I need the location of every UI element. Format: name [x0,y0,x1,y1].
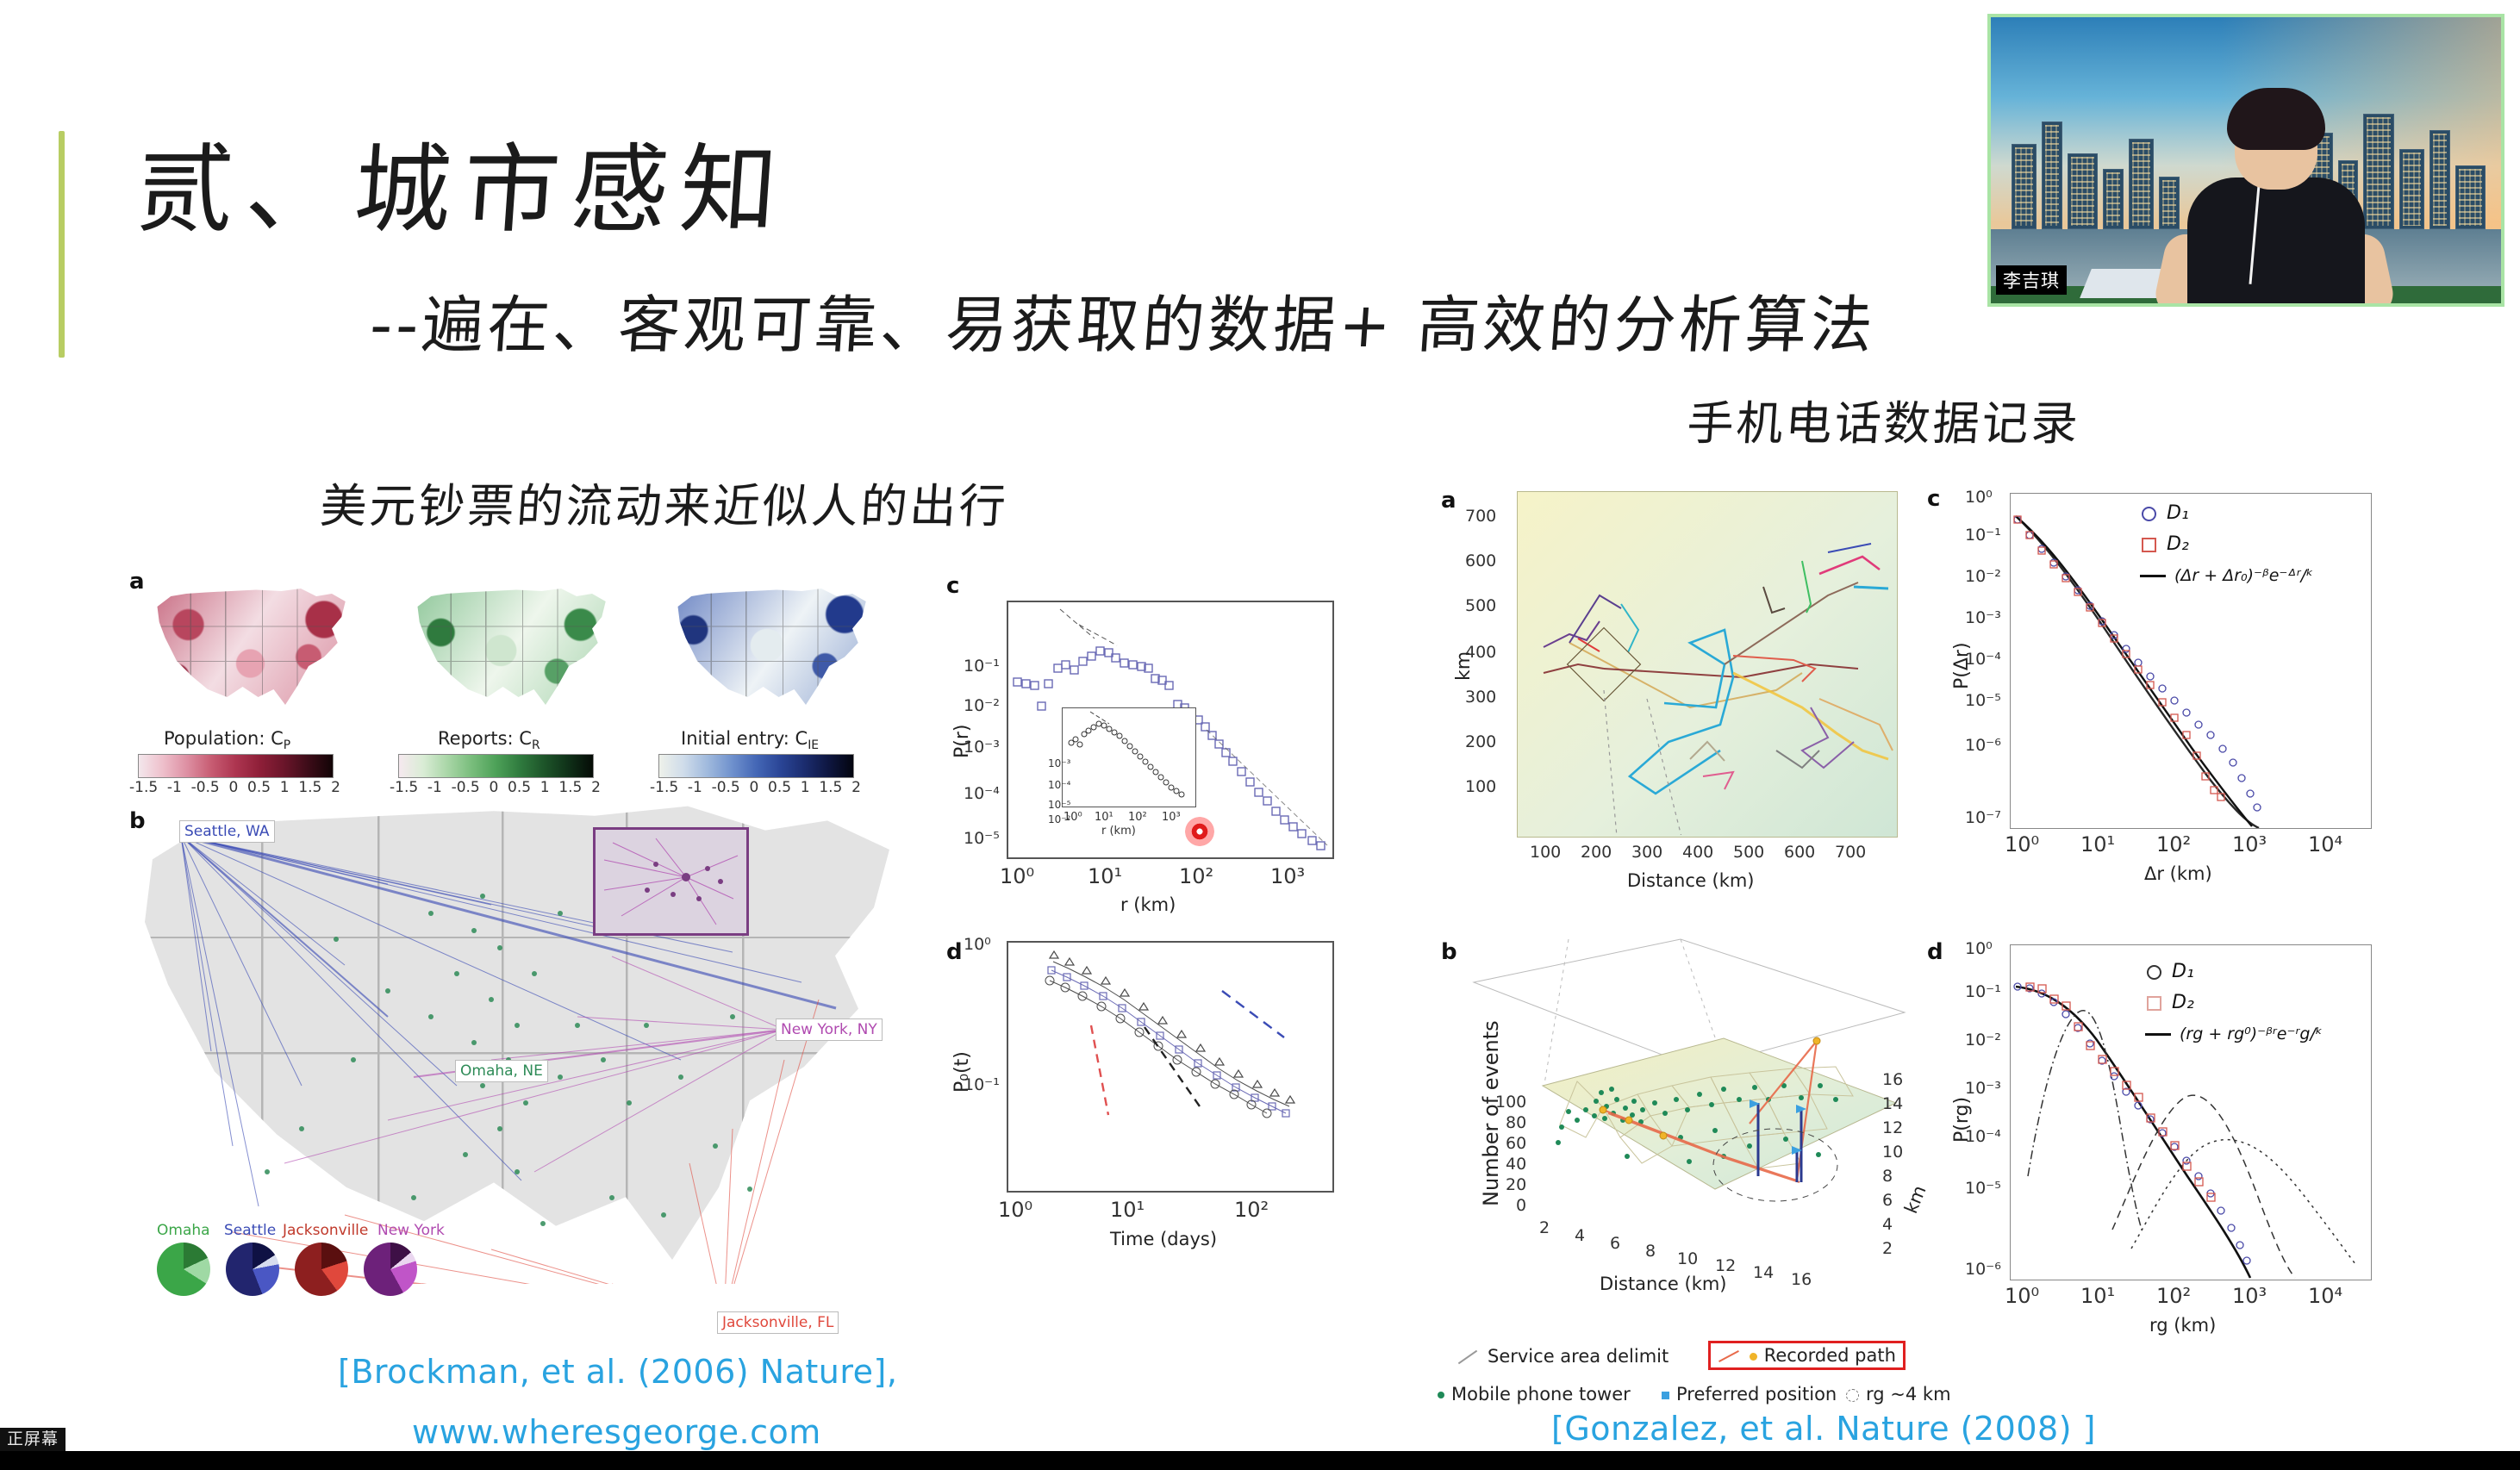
right-panel-d-ytick-6: 10⁻⁶ [1965,1260,2001,1279]
choropleth-map-reports [414,586,608,715]
rg-circle-icon [1846,1389,1859,1402]
right-panel-a-xtick-3: 400 [1682,843,1713,862]
right-panel-b-ztick-14: 14 [1882,1094,1903,1113]
inset-ytick-4: 10⁻⁴ [1048,779,1070,791]
d2-square-icon [2142,538,2156,552]
left-panel-d-xtick-0: 10⁰ [998,1198,1032,1222]
right-panel-b-ztick-4: 4 [1882,1215,1893,1234]
colorbar-ticks-reports: -1.5-1 -0.50 0.51 1.52 [390,779,601,796]
right-panel-d-plot: D₁ D₂ (rg + rg⁰)⁻ᵝʳe⁻ʳg/ᵏ [2010,944,2372,1280]
recorded-path-dot-icon [1750,1353,1757,1361]
inset-xtick-0: 10⁰ [1064,811,1082,824]
inset-xtick-1: 10¹ [1095,811,1113,824]
right-panel-d-ytick-3: 10⁻³ [1965,1079,2001,1098]
right-panel-b-ztick-8: 8 [1882,1167,1893,1186]
right-panel-d-ytick-2: 10⁻² [1965,1031,2001,1050]
colorbar-initial-entry [658,754,854,778]
inset-xtick-2: 10² [1128,811,1147,824]
inset-xlabel: r (km) [1101,825,1136,838]
fit-line-icon [2145,1033,2171,1036]
right-panel-b-xlabel: Distance (km) [1600,1274,1727,1294]
right-panel-a-ytick-700: 700 [1465,507,1496,526]
pie-chart-jacksonville [295,1243,348,1296]
inset-ytick-3: 10⁻³ [1048,757,1070,769]
presenter-hair [2227,88,2325,150]
webcam-video-overlay[interactable]: 李吉琪 [1987,14,2504,307]
right-panel-c-legend-d2: D₂ [2142,533,2189,555]
bottom-black-bar [0,1451,2520,1470]
right-panel-d-letter: d [1927,939,1943,965]
right-panel-b-ytick-20: 20 [1506,1175,1526,1194]
left-panel-d-xlabel: Time (days) [1110,1229,1217,1249]
d1-circle-icon [2142,507,2156,521]
right-panel-a-ytick-600: 600 [1465,551,1496,570]
right-panel-d-xtick-0: 10⁰ [2005,1284,2039,1308]
left-panel-a-letter: a [129,569,145,595]
colorbar-population [138,754,334,778]
left-panel-c-xlabel: r (km) [1120,894,1176,915]
right-panel-c-ytick-5: 10⁻⁵ [1965,691,2001,710]
phone-tower-dot-icon [1438,1392,1444,1398]
mouse-cursor-highlight [1185,817,1214,846]
right-panel-d-xtick-1: 10¹ [2080,1284,2115,1308]
right-panel-c-xtick-4: 10⁴ [2308,832,2342,856]
right-panel-b-xtick-6: 6 [1610,1234,1620,1253]
ny-inset-box [593,827,749,936]
city-label-jacksonville: Jacksonville, FL [717,1311,839,1334]
right-panel-a-ytick-500: 500 [1465,596,1496,615]
right-panel-a-plot [1517,491,1898,838]
presenter-torso [2187,178,2365,307]
right-panel-c-xtick-3: 10³ [2232,832,2267,856]
right-panel-b-xtick-14: 14 [1753,1263,1774,1282]
right-panel-c-xtick-2: 10² [2156,832,2191,856]
pie-chart-omaha [157,1243,210,1296]
right-panel-b-ztick-16: 16 [1882,1070,1903,1089]
money-flow-map: Seattle, WA Omaha, NE New York, NY Jacks… [129,801,905,1284]
left-panel-c-ylabel: P(r) [951,725,973,758]
legend-service-area: Service area delimit [1456,1346,1669,1367]
right-panel-b-ztick-2: 2 [1882,1239,1893,1258]
city-label-newyork: New York, NY [776,1018,883,1041]
left-panel-d-xtick-2: 10² [1234,1198,1269,1222]
city-label-omaha: Omaha, NE [455,1060,548,1082]
right-panel-d-xlabel: rg (km) [2149,1315,2216,1336]
right-panel-a-xtick-0: 100 [1530,843,1561,862]
colorbar-ticks-population: -1.5-1 -0.50 0.51 1.52 [129,779,340,796]
right-panel-c-legend-d1: D₁ [2142,502,2189,524]
right-panel-c-legend-fit: (Δr + Δr₀)⁻ᵝe⁻ᐞʳ/ᵏ [2140,566,2313,585]
page-subtitle: --遍在、客观可靠、易获取的数据+ 高效的分析算法 [367,274,1880,364]
right-panel-a-xtick-4: 500 [1733,843,1764,862]
flow-lines-svg [129,801,905,1284]
right-panel-d-legend-fit: (rg + rg⁰)⁻ᵝʳe⁻ʳg/ᵏ [2145,1025,2323,1043]
right-panel-b-ztick-10: 10 [1882,1143,1903,1162]
left-panel-c-xtick-2: 10² [1179,864,1213,888]
inset-ytick-5: 10⁻⁵ [1048,799,1070,811]
right-panel-a-xtick-5: 600 [1784,843,1815,862]
right-panel-a-ylabel: km [1453,651,1475,681]
right-panel-b-xtick-2: 2 [1539,1218,1550,1237]
speaker-name-badge: 李吉琪 [1996,265,2067,295]
choropleth-map-initial-entry [674,586,868,715]
pie-chart-seattle [226,1243,279,1296]
right-panel-c-ytick-2: 10⁻² [1965,567,2001,586]
page-title: 贰、城市感知 [133,112,794,252]
right-panel-c-ylabel: P(Δr) [1951,642,1973,689]
left-panel-c-ytick-2: 10⁻² [964,696,1000,715]
right-panel-d-ylabel: P(rg) [1951,1097,1973,1143]
right-panel-b-xtick-12: 12 [1715,1256,1736,1275]
citation-left-line1: [Brockman, et al. (2006) Nature], [338,1353,897,1391]
city-label-seattle: Seattle, WA [179,820,275,843]
left-panel-d-ylabel: P₀(t) [951,1051,973,1093]
map-caption-reports: Reports: CR [438,728,540,752]
right-panel-c-ytick-1: 10⁻¹ [1965,526,2001,545]
right-panel-c-xlabel: Δr (km) [2144,863,2212,884]
right-panel-a-letter: a [1441,488,1456,514]
d1-circle-icon [2147,965,2161,980]
screenshare-badge: 正屏幕 [0,1428,65,1451]
preferred-position-icon [1662,1392,1669,1399]
fit-line-icon [2140,575,2166,577]
left-panel-d-letter: d [946,939,963,965]
right-panel-b-letter: b [1441,939,1457,965]
right-panel-c-ytick-6: 10⁻⁶ [1965,736,2001,755]
right-panel-b-ztick-12: 12 [1882,1118,1903,1137]
right-panel-a-xlabel: Distance (km) [1627,870,1755,891]
choropleth-map-population [153,586,347,715]
left-panel-d-plot [1007,941,1334,1193]
d2-square-icon [2147,996,2161,1011]
right-panel-d-xtick-4: 10⁴ [2308,1284,2342,1308]
legend-rg-radius: rg ~4 km [1846,1384,1951,1405]
right-panel-c-xtick-1: 10¹ [2080,832,2115,856]
left-panel-d-ytick-0: 10⁰ [964,935,991,954]
citation-left-line2: www.wheresgeorge.com [412,1413,821,1451]
left-panel-c-plot: 10⁻² 10⁻³ 10⁻⁴ 10⁻⁵ 10⁰ 10¹ 10² 10³ r (k… [1007,601,1334,859]
right-panel-b-xtick-10: 10 [1677,1249,1698,1268]
legend-phone-tower: Mobile phone tower [1438,1384,1631,1405]
left-panel-c-inset [1062,707,1196,807]
right-panel-d-ytick-5: 10⁻⁵ [1965,1179,2001,1198]
map-caption-population: Population: CP [164,728,290,752]
left-panel-c-xtick-0: 10⁰ [1000,864,1034,888]
right-panel-b-plot [1465,931,1913,1275]
colorbar-reports [398,754,594,778]
pie-chart-newyork [364,1243,417,1296]
pie-label-jacksonville: Jacksonville [283,1222,368,1239]
right-panel-d-legend-d2: D₂ [2147,992,2194,1013]
right-panel-d-legend-d1: D₁ [2147,961,2194,982]
right-panel-a-ytick-200: 200 [1465,732,1496,751]
right-panel-a-ytick-300: 300 [1465,688,1496,707]
pie-label-seattle: Seattle [224,1222,276,1239]
right-panel-b-xtick-4: 4 [1575,1226,1585,1245]
citation-right: [Gonzalez, et al. Nature (2008) ] [1551,1410,2096,1448]
right-panel-b-ytick-60: 60 [1506,1134,1526,1153]
right-panel-b-ytick-80: 80 [1506,1113,1526,1132]
legend-preferred-position: Preferred position [1662,1384,1837,1405]
right-panel-d-xtick-3: 10³ [2232,1284,2267,1308]
title-accent-bar [59,131,65,358]
recorded-path-line-icon [1718,1350,1739,1362]
right-panel-c-ytick-3: 10⁻³ [1965,608,2001,627]
right-panel-a-xtick-1: 200 [1581,843,1612,862]
right-panel-c-plot: D₁ D₂ (Δr + Δr₀)⁻ᵝe⁻ᐞʳ/ᵏ [2010,493,2372,829]
right-panel-a-xtick-6: 700 [1835,843,1866,862]
legend-recorded-path: Recorded path [1708,1341,1906,1370]
right-panel-a-ytick-100: 100 [1465,777,1496,796]
right-panel-b-xtick-16: 16 [1791,1270,1812,1289]
right-panel-b-ztick-6: 6 [1882,1191,1893,1210]
right-section-heading: 手机电话数据记录 [1685,385,2083,453]
right-panel-c-ytick-0: 10⁰ [1965,488,1993,507]
left-panel-d-xtick-1: 10¹ [1110,1198,1145,1222]
colorbar-ticks-initial-entry: -1.5-1 -0.50 0.51 1.52 [650,779,861,796]
inset-xtick-3: 10³ [1162,811,1181,824]
right-panel-b-ylabel: Number of events [1479,1020,1503,1206]
right-panel-b-ytick-40: 40 [1506,1155,1526,1174]
left-panel-c-ytick-5: 10⁻⁵ [964,829,1000,848]
right-panel-b-ytick-0: 0 [1516,1196,1526,1215]
right-panel-c-xtick-0: 10⁰ [2005,832,2039,856]
left-section-heading: 美元钞票的流动来近似人的出行 [318,468,1011,536]
right-panel-d-ytick-1: 10⁻¹ [1965,982,2001,1001]
service-area-line-icon [1458,1350,1477,1365]
left-panel-c-ytick-1: 10⁻¹ [964,657,1000,676]
left-panel-c-ytick-4: 10⁻⁴ [964,784,1000,803]
right-panel-d-xtick-2: 10² [2156,1284,2191,1308]
right-panel-d-ytick-0: 10⁰ [1965,939,1993,958]
right-panel-c-letter: c [1927,486,1940,512]
right-panel-a-xtick-2: 300 [1631,843,1662,862]
left-panel-c-letter: c [946,573,959,599]
pie-label-omaha: Omaha [157,1222,210,1239]
left-panel-c-xtick-1: 10¹ [1088,864,1122,888]
right-panel-c-ytick-7: 10⁻⁷ [1965,808,2001,827]
pie-label-newyork: New York [377,1222,445,1239]
map-caption-initial-entry: Initial entry: CIE [681,728,819,752]
right-panel-b-xtick-8: 8 [1645,1242,1656,1261]
left-panel-c-xtick-3: 10³ [1270,864,1305,888]
